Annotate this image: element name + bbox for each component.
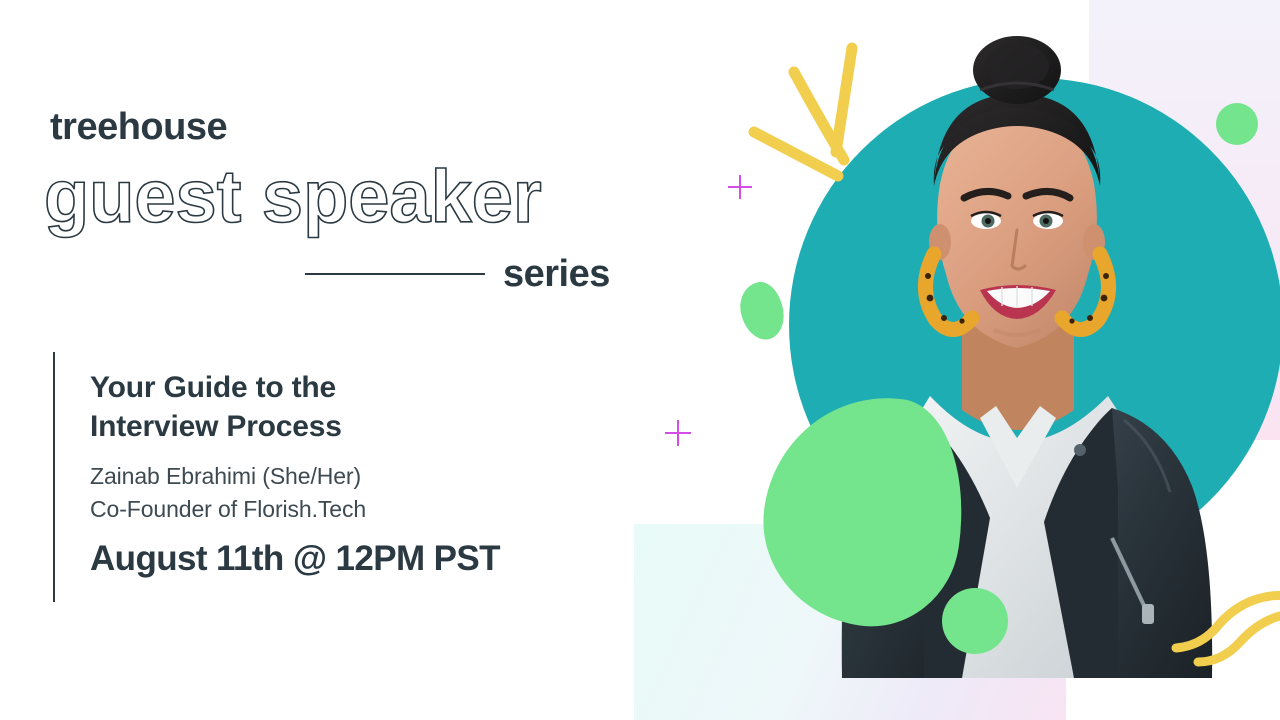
headline-outlined-text: guest speaker bbox=[44, 160, 542, 234]
brand-wordmark: treehouse bbox=[50, 108, 227, 146]
speaker-role: Co-Founder of Florish.Tech bbox=[90, 493, 630, 526]
green-dot-shape-top-right bbox=[1216, 103, 1258, 145]
sparkle-burst-icon bbox=[740, 30, 920, 200]
wavy-lines-icon bbox=[1170, 570, 1280, 680]
plus-mark-icon-upper bbox=[728, 175, 752, 199]
series-label: series bbox=[503, 255, 610, 293]
series-divider-rule bbox=[305, 273, 485, 275]
promo-graphic: treehouse guest speaker series Your Guid… bbox=[0, 0, 1280, 720]
green-dot-shape-bottom bbox=[942, 588, 1008, 654]
event-info-block: Your Guide to the Interview Process Zain… bbox=[90, 368, 630, 576]
speaker-name: Zainab Ebrahimi (She/Her) bbox=[90, 460, 630, 493]
series-row: series bbox=[305, 255, 625, 293]
plus-mark-icon-lower bbox=[665, 420, 691, 446]
talk-title: Your Guide to the Interview Process bbox=[90, 368, 630, 446]
event-datetime: August 11th @ 12PM PST bbox=[90, 541, 630, 576]
green-blob-small-shape bbox=[735, 278, 788, 343]
vertical-accent-rule bbox=[53, 352, 55, 602]
